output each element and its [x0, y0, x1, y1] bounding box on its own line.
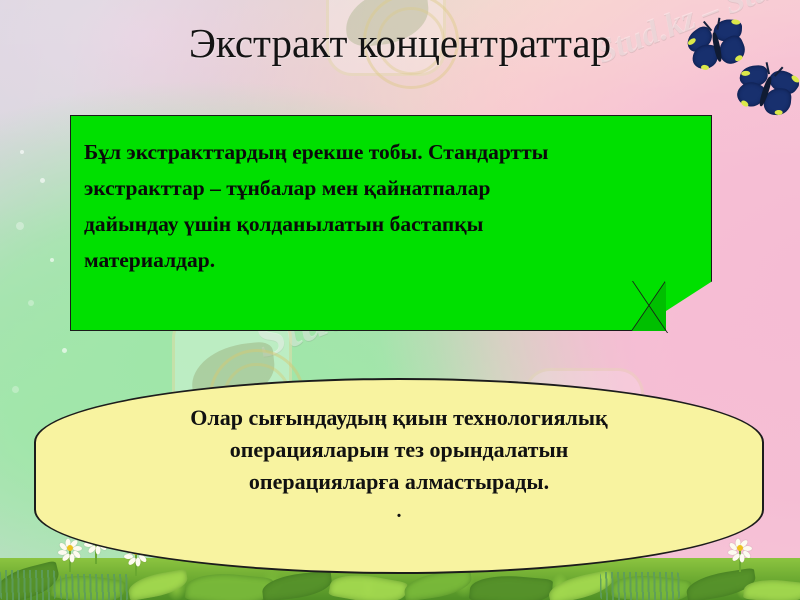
green-line: дайындау үшін қолданылатын бастапқы: [84, 206, 714, 242]
green-line: экстракттар – тұнбалар мен қайнатпалар: [84, 170, 714, 206]
sparkle-dot: [20, 150, 24, 154]
folded-corner-icon: [632, 281, 666, 331]
green-line: Бұл экстракттардың ерекше тобы. Стандарт…: [84, 134, 714, 170]
page-title: Экстракт концентраттар: [0, 22, 800, 65]
yellow-trailing-mark: .: [60, 498, 738, 524]
yellow-line: операцияларын тез орындалатын: [60, 434, 738, 466]
sparkle-dot: [12, 386, 19, 393]
slide-canvas: Stud.kz Stud.kz Stud.kz – Stud.kz Stud.k…: [0, 0, 800, 600]
sparkle-dot: [16, 222, 24, 230]
sparkle-dot: [62, 348, 67, 353]
fern-shape: [0, 570, 56, 600]
fern-shape: [600, 572, 680, 600]
sparkle-dot: [28, 300, 34, 306]
yellow-line: Олар сығындаудың қиын технологиялық: [60, 402, 738, 434]
green-box-text: Бұл экстракттардың ерекше тобы. Стандарт…: [84, 134, 714, 278]
green-line: материалдар.: [84, 242, 714, 278]
yellow-box-text: Олар сығындаудың қиын технологиялық опер…: [60, 402, 738, 524]
sparkle-dot: [40, 178, 45, 183]
sparkle-dot: [50, 258, 54, 262]
fern-shape: [60, 574, 130, 600]
yellow-line: операцияларға алмастырады.: [60, 466, 738, 498]
